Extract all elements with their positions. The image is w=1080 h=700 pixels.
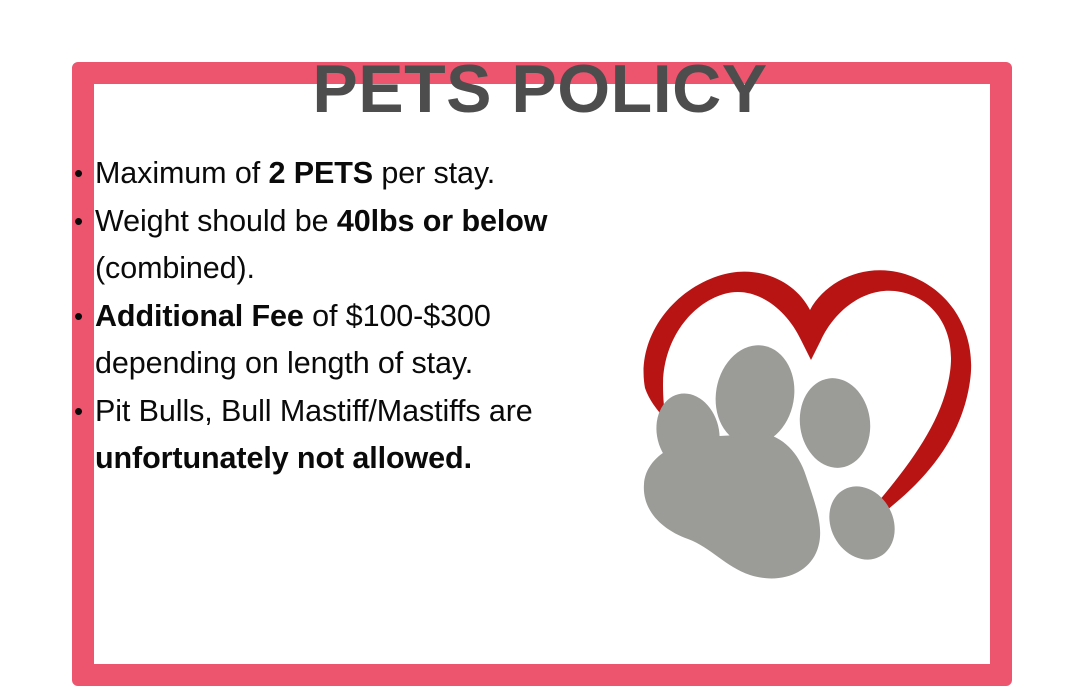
policy-item-breed-restriction-run-0: Pit Bulls, Bull Mastiff/Mastiffs are bbox=[95, 394, 533, 428]
policy-item-max-pets: Maximum of 2 PETS per stay. bbox=[73, 150, 593, 198]
paw-main-pad bbox=[644, 432, 820, 578]
policy-item-weight-limit: Weight should be 40lbs or below (combine… bbox=[73, 198, 593, 293]
policy-item-weight-limit-run-2: (combined). bbox=[95, 251, 255, 285]
policy-bullet-list: Maximum of 2 PETS per stay.Weight should… bbox=[73, 150, 593, 483]
policy-item-breed-restriction-run-1: unfortunately not allowed. bbox=[95, 441, 472, 475]
policy-item-additional-fee-run-0: Additional Fee bbox=[95, 299, 304, 333]
paw-toe-inner-right bbox=[794, 374, 876, 473]
heart-paw-logo bbox=[630, 248, 980, 588]
policy-item-max-pets-run-2: per stay. bbox=[373, 156, 495, 190]
page-title: PETS POLICY bbox=[0, 55, 1080, 123]
policy-item-weight-limit-run-0: Weight should be bbox=[95, 204, 337, 238]
policy-item-breed-restriction: Pit Bulls, Bull Mastiff/Mastiffs are unf… bbox=[73, 388, 593, 483]
policy-item-weight-limit-run-1: 40lbs or below bbox=[337, 204, 547, 238]
pets-policy-poster: PETS POLICY Maximum of 2 PETS per stay.W… bbox=[0, 0, 1080, 700]
policy-item-max-pets-run-0: Maximum of bbox=[95, 156, 268, 190]
policy-item-additional-fee: Additional Fee of $100-$300 depending on… bbox=[73, 293, 593, 388]
policy-item-max-pets-run-1: 2 PETS bbox=[268, 156, 373, 190]
